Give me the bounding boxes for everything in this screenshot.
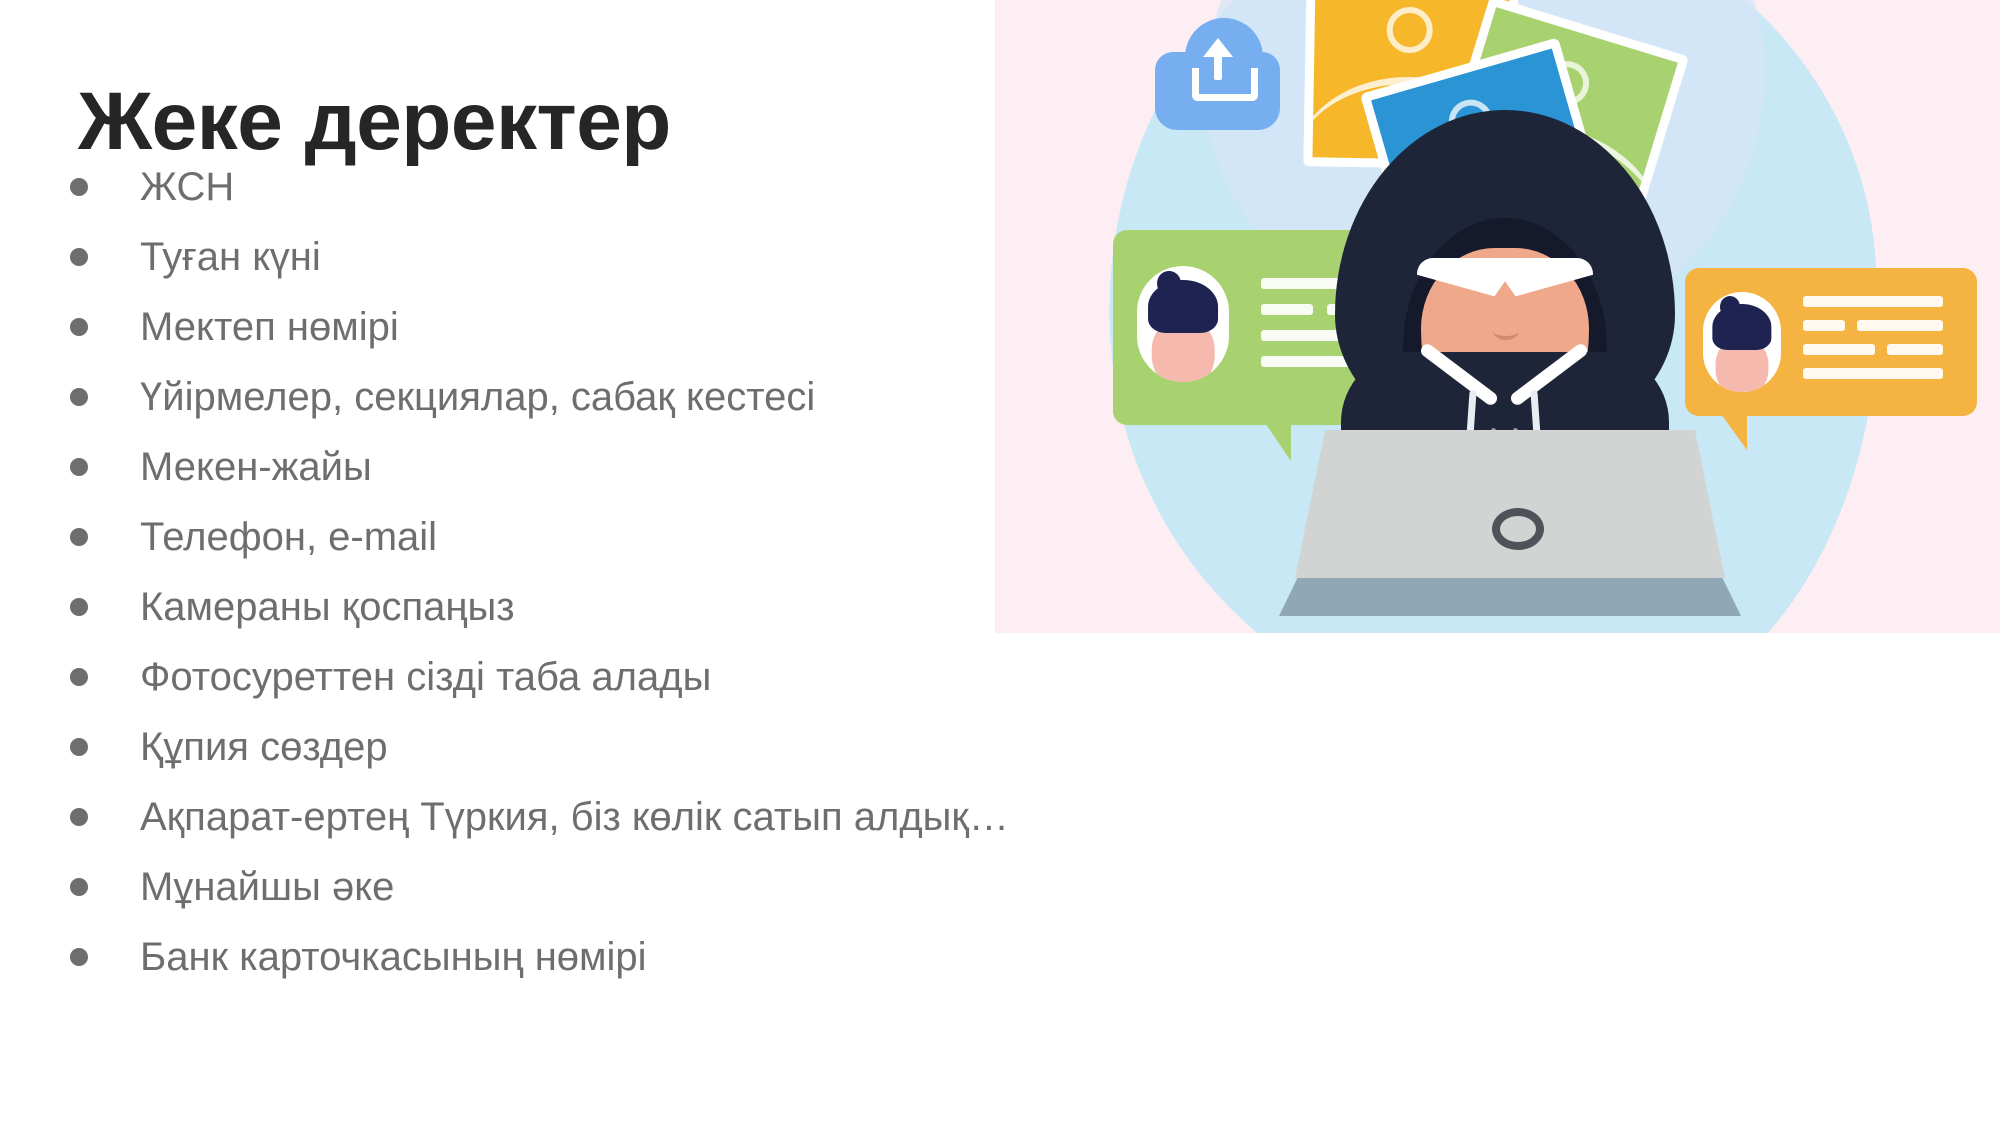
list-item-label: Мектеп нөмірі [140, 292, 399, 362]
chat-bubble-orange-icon [1685, 268, 1977, 416]
bullet-dot-icon [70, 248, 88, 266]
list-item: Үйірмелер, секциялар, сабақ кестесі [0, 362, 1000, 432]
list-item: Ақпарат-ертең Түркия, біз көлік сатып ал… [0, 782, 1000, 852]
bullet-dot-icon [70, 388, 88, 406]
upload-arrow-head-shape [1203, 38, 1233, 57]
bullet-dot-icon [70, 948, 88, 966]
photo-sun-shape [1386, 7, 1433, 54]
cloud-upload-icon [1155, 18, 1280, 130]
personal-data-list: ЖСН Туған күні Мектеп нөмірі Үйірмелер, … [0, 152, 1000, 992]
list-item-label: ЖСН [140, 152, 234, 222]
bullet-dot-icon [70, 598, 88, 616]
content-column: Жеке деректер ЖСН Туған күні Мектеп нөмі… [0, 0, 1000, 1125]
bullet-dot-icon [70, 808, 88, 826]
bullet-dot-icon [70, 528, 88, 546]
upload-tray-shape [1192, 68, 1258, 101]
list-item: Телефон, e-mail [0, 502, 1000, 572]
bubble-text-line [1803, 320, 1845, 331]
hacker-illustration [995, 0, 2000, 633]
bubble-text-line [1261, 304, 1313, 315]
list-item: Туған күні [0, 222, 1000, 292]
list-item: Камераны қоспаңыз [0, 572, 1000, 642]
avatar [1703, 292, 1781, 392]
list-item-label: Телефон, e-mail [140, 502, 437, 572]
list-item-label: Банк карточкасының нөмірі [140, 922, 647, 992]
bullet-dot-icon [70, 458, 88, 476]
bullet-dot-icon [70, 878, 88, 896]
bullet-dot-icon [70, 178, 88, 196]
slide-canvas: Жеке деректер ЖСН Туған күні Мектеп нөмі… [0, 0, 2000, 1125]
bubble-text-line [1887, 344, 1943, 355]
list-item-label: Үйірмелер, секциялар, сабақ кестесі [140, 362, 815, 432]
laptop-icon [1295, 430, 1725, 620]
bubble-text-line [1803, 344, 1875, 355]
list-item-label: Құпия сөздер [140, 712, 388, 782]
list-item-label: Туған күні [140, 222, 321, 292]
bubble-tail-shape [1265, 423, 1291, 461]
nose-shape [1493, 322, 1519, 340]
list-item: Фотосуреттен сізді таба алады [0, 642, 1000, 712]
list-item-label: Камераны қоспаңыз [140, 572, 515, 642]
list-item-label: Фотосуреттен сізді таба алады [140, 642, 711, 712]
bubble-text-line [1803, 296, 1943, 307]
bubble-text-line [1857, 320, 1943, 331]
list-item: Банк карточкасының нөмірі [0, 922, 1000, 992]
list-item: Мектеп нөмірі [0, 292, 1000, 362]
list-item: Мұнайшы әке [0, 852, 1000, 922]
bubble-text-line [1803, 368, 1943, 379]
bullet-dot-icon [70, 668, 88, 686]
laptop-lid-shape [1295, 430, 1725, 578]
laptop-base-shape [1279, 578, 1741, 616]
list-item: Мекен-жайы [0, 432, 1000, 502]
list-item: Құпия сөздер [0, 712, 1000, 782]
bullet-dot-icon [70, 738, 88, 756]
list-item-label: Ақпарат-ертең Түркия, біз көлік сатып ал… [140, 782, 1009, 852]
avatar-hair-tuft-shape [1157, 271, 1181, 297]
list-item: ЖСН [0, 152, 1000, 222]
avatar [1137, 266, 1229, 382]
laptop-logo-icon [1492, 508, 1544, 550]
list-item-label: Мұнайшы әке [140, 852, 394, 922]
bullet-dot-icon [70, 318, 88, 336]
list-item-label: Мекен-жайы [140, 432, 372, 502]
